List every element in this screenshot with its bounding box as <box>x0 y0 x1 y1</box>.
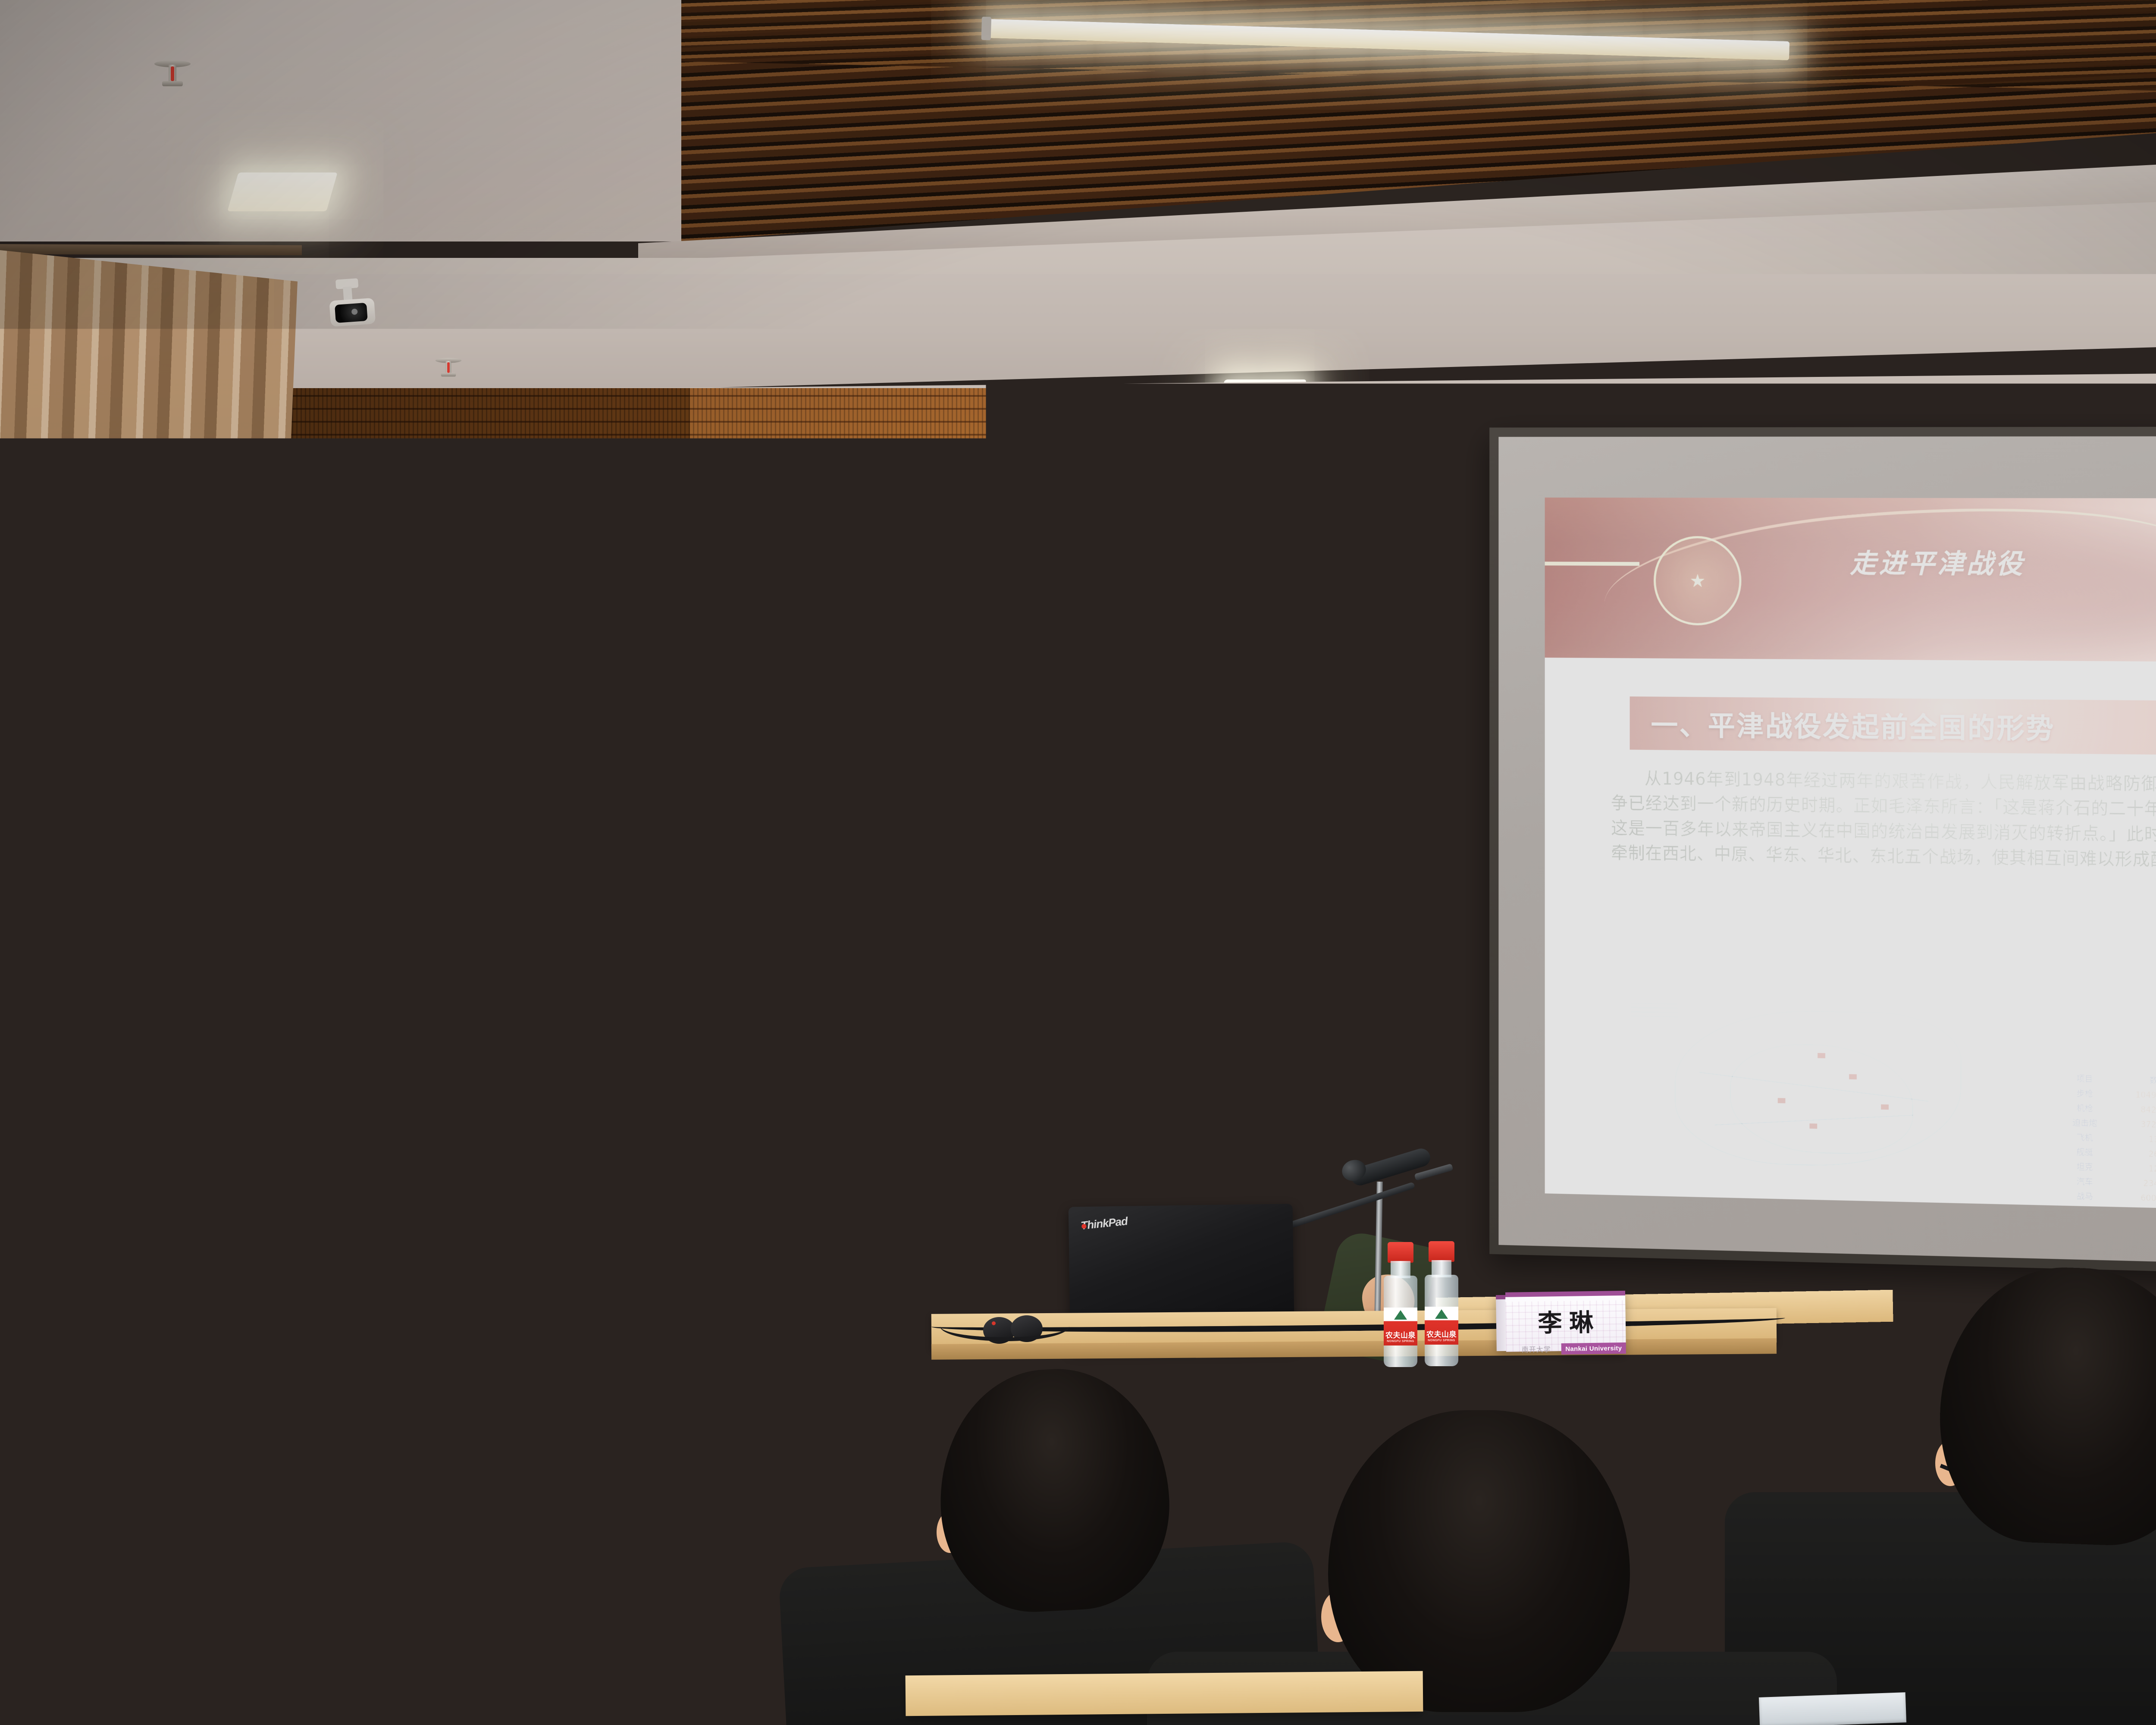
podium-cabinet-door[interactable] <box>276 1558 410 1725</box>
pla-emblem-icon: ★ <box>1654 536 1742 625</box>
audience-member <box>940 1369 1169 1611</box>
slide-table-cell: 步枪 <box>2058 1085 2112 1101</box>
projection-screen[interactable]: ★ 走进平津战役 一、平津战役发起前全国的形势 从1946年到1948年经过两年… <box>1489 427 2156 1283</box>
thinkpad-logo: ThinkPad <box>1080 1214 1128 1233</box>
audience-member <box>1940 1268 2156 1544</box>
slide-table-cell: 60012匹 <box>2112 1189 2156 1206</box>
ceiling-plaster-left <box>0 0 707 241</box>
emblem-star-glyph: ★ <box>1689 572 1705 590</box>
rank-star: ★ <box>1103 1186 1116 1200</box>
projection-screen-surface: ★ 走进平津战役 一、平津战役发起前全国的形势 从1946年到1948年经过两年… <box>1498 436 2156 1272</box>
slide-table-cell: 坦克 <box>2058 1159 2112 1175</box>
slide-table-cell: 战马 <box>2058 1188 2112 1204</box>
slide-table-cell: 汽车 <box>2058 1173 2112 1189</box>
slide-table-cell: 飞机 <box>2058 1129 2112 1145</box>
name-placard[interactable]: 李琳 南开大学 Nankai University <box>1496 1291 1626 1357</box>
placard-university-en: Nankai University <box>1561 1342 1626 1355</box>
bottle-brand-en: NONGFU SPRING <box>1387 1340 1414 1343</box>
slide-table-subtitle: 解放区面积、人口、城市变化 <box>2058 1203 2156 1217</box>
slide-table-header-cell: 项目 <box>2058 1071 2112 1087</box>
bottle-cap <box>1429 1241 1454 1262</box>
desk-cable <box>940 1311 1069 1341</box>
emblem-dot-left: · <box>217 1440 225 1455</box>
nongfu-mountain-icon <box>1394 1310 1407 1320</box>
presenter-teeth <box>1204 1124 1242 1132</box>
rank-star: ★ <box>1148 1192 1162 1206</box>
water-bottle[interactable]: 农夫山泉 NONGFU SPRING <box>1423 1241 1460 1366</box>
slide-table-cell: 2340辆 <box>2112 1175 2156 1192</box>
slide-table-cell: 迫击炮 <box>2058 1115 2112 1131</box>
slide-banner-title: 走进平津战役 <box>1850 542 2025 581</box>
audience-member <box>1328 1410 1630 1712</box>
multimedia-podium[interactable]: NANKAI UNIVERSITY 南開 · · 1919 多媒体讲台 服务电话… <box>0 1246 711 1725</box>
lecture-hall-photo: ★ 走进平津战役 一、平津战役发起前全国的形势 从1946年到1948年经过两年… <box>0 0 2156 1725</box>
rank-star: ★ <box>1118 1188 1131 1202</box>
slide-table-cell: 12辆 <box>2112 1160 2156 1177</box>
slide-table-cell: 13架 <box>2112 1131 2156 1148</box>
slide-table-row: 战马60012匹 <box>2058 1188 2156 1211</box>
slide-banner-rule-left <box>1545 561 1639 566</box>
water-bottle[interactable]: 农夫山泉 NONGFU SPRING <box>1382 1242 1419 1367</box>
placard-university-cn: 南开大学 <box>1522 1343 1551 1354</box>
bottle-label: 农夫山泉 NONGFU SPRING <box>1425 1307 1458 1345</box>
slide-table-cell: 84213挺 <box>2112 1101 2156 1118</box>
slide-banner: ★ 走进平津战役 <box>1545 498 2156 664</box>
slide-table-cell: 37235门 <box>2112 1116 2156 1133</box>
audience-desk-row <box>906 1671 1423 1716</box>
vendor-triangle-icon <box>599 1328 606 1335</box>
slide-china-map <box>1611 986 2010 1204</box>
emblem-dot-right: · <box>297 1440 305 1455</box>
bottle-label: 农夫山泉 NONGFU SPRING <box>1384 1308 1417 1345</box>
slide-section-heading: 一、平津战役发起前全国的形势 <box>1630 696 2156 757</box>
notebook-on-desk[interactable] <box>1759 1692 1906 1725</box>
window-curtain[interactable] <box>0 250 298 1294</box>
recessed-ceiling-light <box>227 172 338 211</box>
placard-name: 李琳 <box>1505 1303 1626 1339</box>
slide-media-row: 中国人民解放战争 两年战绩统计表 项目数量对比人民解放军国民党军步枪104980… <box>1611 986 2156 1215</box>
podium-cabinet-lock-icon[interactable] <box>338 1587 347 1596</box>
podium-vendor-text: 多媒体讲台 服务电话:400-608-6258 <box>610 1323 678 1335</box>
curtain-rod <box>0 244 302 255</box>
emblem-founding-year: 1919 <box>194 1465 328 1484</box>
slide-body-text: 从1946年到1948年经过两年的艰苦作战，人民解放军由战略防御转为战略进攻，这… <box>1611 766 2156 876</box>
slide-table-cell: 机枪 <box>2058 1100 2112 1116</box>
bottle-brand-en: NONGFU SPRING <box>1428 1339 1455 1342</box>
slide-table-cell: 1049800支 <box>2112 1086 2156 1103</box>
slide-statistics-table: 中国人民解放战争 两年战绩统计表 项目数量对比人民解放军国民党军步枪104980… <box>2031 993 2156 1215</box>
slide-table-cell: 舰艇 <box>2058 1144 2112 1160</box>
rank-star: ★ <box>1133 1190 1147 1204</box>
slide-table-grid: 项目数量对比人民解放军国民党军步枪1049800支兵力解放军1280000人机枪… <box>2057 1070 2156 1216</box>
nankai-university-emblem-icon: NANKAI UNIVERSITY 南開 · · 1919 <box>190 1350 332 1492</box>
slide-section-heading-text: 一、平津战役发起前全国的形势 <box>1651 704 2055 746</box>
bottle-brand-cn: 农夫山泉 <box>1385 1329 1416 1340</box>
slide-table-header-cell: 数量 <box>2112 1072 2156 1088</box>
slide-table-title-line2: 两年战绩统计表 <box>2057 1038 2156 1063</box>
presentation-slide: ★ 走进平津战役 一、平津战役发起前全国的形势 从1946年到1948年经过两年… <box>1545 498 2156 1217</box>
bottle-cap <box>1388 1242 1413 1263</box>
bottle-brand-cn: 农夫山泉 <box>1426 1328 1457 1339</box>
rank-star: ★ <box>1303 1197 1316 1212</box>
slide-table-cell: 26艘 <box>2112 1145 2156 1162</box>
nongfu-mountain-icon <box>1435 1309 1448 1319</box>
presenter-nose <box>1211 1091 1231 1122</box>
thinkpad-red-dot-icon <box>1081 1224 1086 1229</box>
emblem-chinese-name: 南開 <box>223 1394 298 1448</box>
